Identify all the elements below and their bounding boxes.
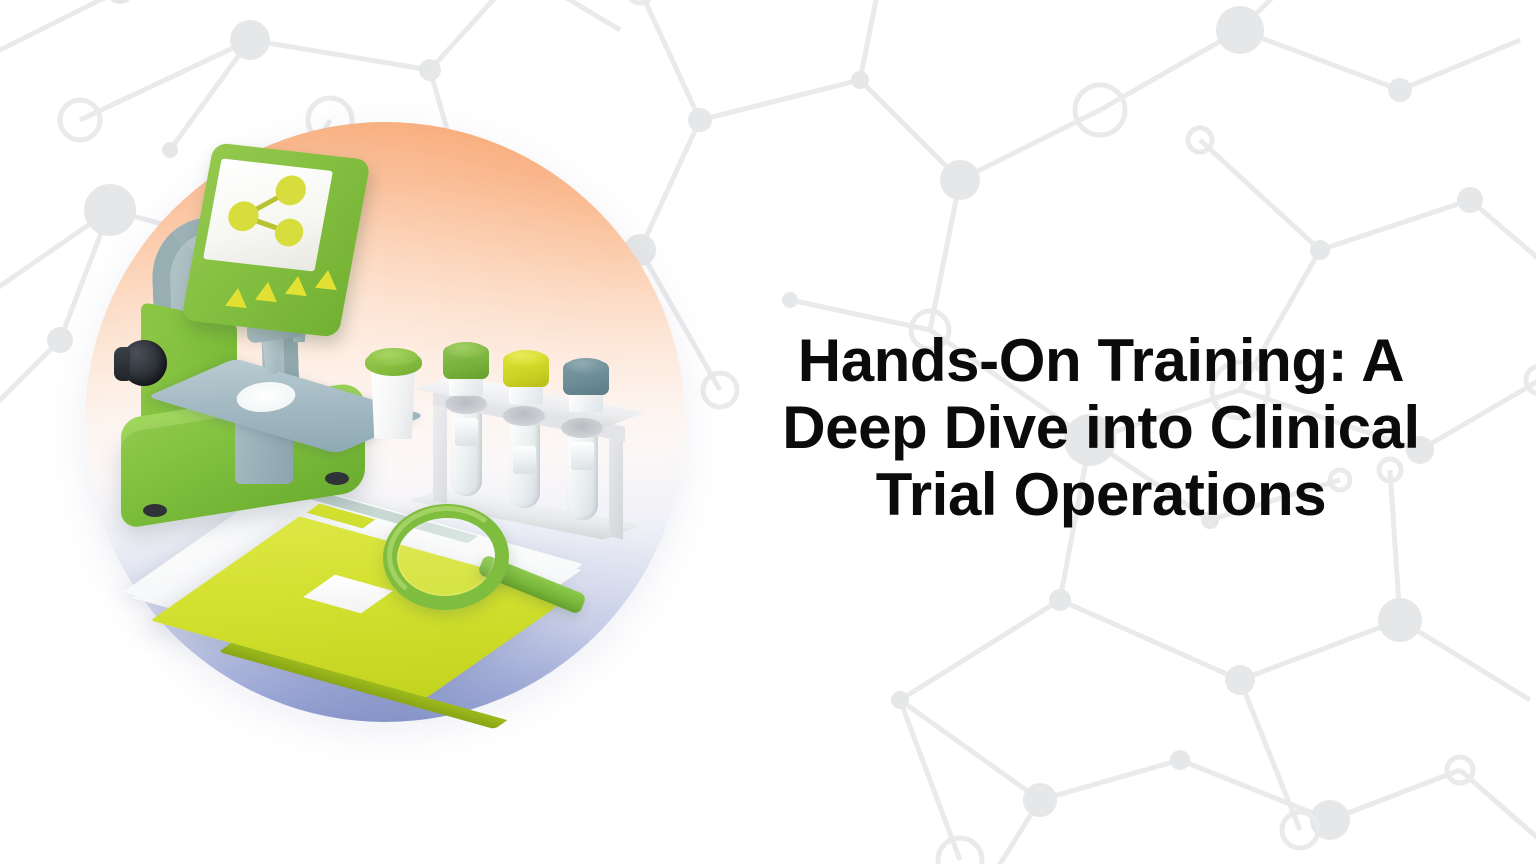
page-title: Hands-On Training: A Deep Dive into Clin… xyxy=(746,328,1456,529)
specimen-cup-body xyxy=(369,365,417,439)
test-tube-rack-hole xyxy=(445,394,487,414)
monitor-triangle-button[interactable] xyxy=(285,275,309,296)
test-tube-liquid xyxy=(455,418,478,446)
test-tube-rack-wall xyxy=(609,439,623,540)
test-tube-rack-wall xyxy=(433,403,447,504)
test-tube-rack-hole xyxy=(561,418,603,438)
clinical-lab-illustration xyxy=(85,122,685,722)
vial-teal-cap-top xyxy=(566,358,606,374)
illustration-stage xyxy=(85,122,685,722)
microscope-foot xyxy=(143,504,167,517)
title-block: Hands-On Training: A Deep Dive into Clin… xyxy=(746,328,1456,529)
monitor-triangle-button[interactable] xyxy=(315,269,339,290)
slide-canvas: Hands-On Training: A Deep Dive into Clin… xyxy=(0,0,1536,864)
vial-green-cap-top xyxy=(446,342,486,358)
microscope-knob-face xyxy=(114,347,130,381)
microscope-foot xyxy=(325,472,349,485)
monitor-triangle-button[interactable] xyxy=(255,281,279,302)
network-share-icon xyxy=(203,158,333,271)
vial-yellow-cap-top xyxy=(506,350,546,366)
test-tube-rack-hole xyxy=(503,406,545,426)
test-tube-liquid xyxy=(571,442,594,470)
monitor-triangle-button[interactable] xyxy=(225,287,249,308)
test-tube-liquid xyxy=(513,446,536,474)
specimen-cup-lid-top xyxy=(369,348,418,366)
